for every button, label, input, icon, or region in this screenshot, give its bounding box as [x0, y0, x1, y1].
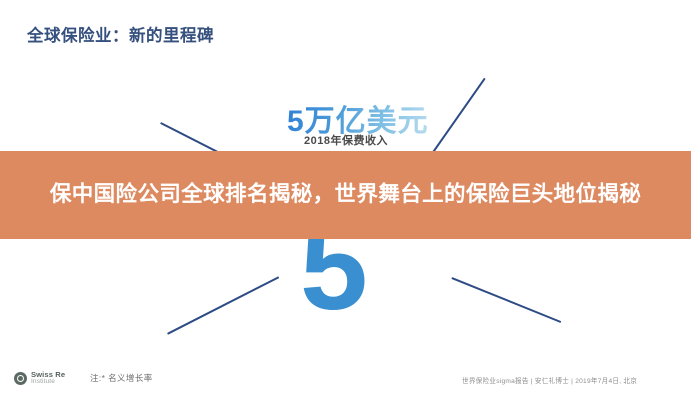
footnote: 注:* 名义增长率: [90, 372, 153, 384]
headline-subtitle: 2018年保费收入: [304, 132, 388, 148]
caption-overlay-text: 保中国险公司全球排名揭秘，世界舞台上的保险巨头地位揭秘: [50, 179, 641, 210]
connector-line-bottom-right: [451, 277, 561, 323]
slide-title: 全球保险业：新的里程碑: [27, 22, 214, 46]
swiss-re-logo-sub: Institute: [31, 379, 65, 386]
swiss-re-logo-icon: [14, 372, 27, 385]
connector-line-bottom-left: [167, 276, 279, 334]
swiss-re-logo: Swiss Re Institute: [14, 371, 65, 386]
swiss-re-logo-wordmark: Swiss Re Institute: [31, 371, 65, 386]
caption-overlay-band: 保中国险公司全球排名揭秘，世界舞台上的保险巨头地位揭秘: [0, 151, 691, 239]
footer-source-meta: 世界保险业sigma报告 | 安仁礼博士 | 2019年7月4日, 北京: [462, 375, 637, 385]
screenshot-stage: 全球保险业：新的里程碑 5万亿美元 2018年保费收入 5 下一个5年:5%的增…: [0, 0, 691, 400]
